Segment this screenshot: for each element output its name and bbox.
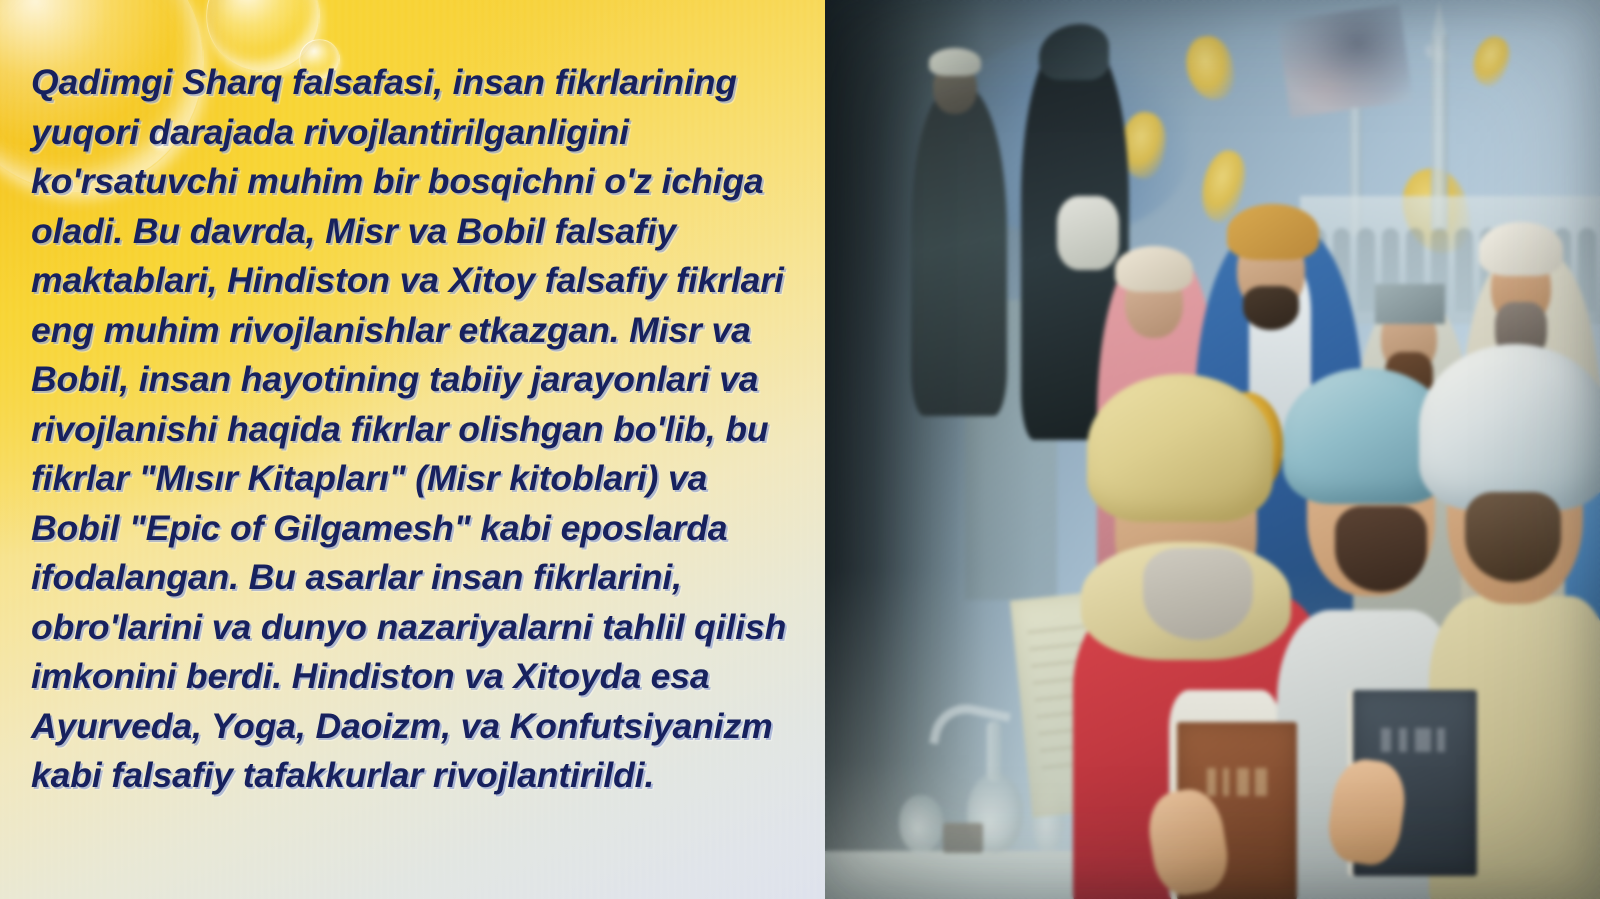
- mural-sky-background: [825, 0, 1600, 899]
- distillation-tube: [929, 698, 1011, 758]
- gold-motif-icon: [1466, 31, 1516, 90]
- gold-motif-icon: [1116, 109, 1171, 182]
- parchment-script-lines: [1027, 622, 1128, 780]
- parchment-scroll: [1010, 588, 1150, 817]
- winged-horse-motif: [1277, 4, 1413, 118]
- figure-robe: [1097, 250, 1219, 670]
- brown-book-inscription: [1207, 768, 1267, 796]
- mosque-building: [1300, 196, 1600, 324]
- figure-head: [1491, 250, 1551, 326]
- bird-motif-icon: [1421, 39, 1454, 67]
- retort-stand: [943, 823, 983, 853]
- hand-holding-book: [1143, 785, 1232, 899]
- figure-cap: [1375, 284, 1445, 324]
- small-flask: [899, 795, 943, 853]
- figure-turban: [1283, 368, 1451, 504]
- lute-neck: [1232, 483, 1253, 550]
- figure-turban: [1479, 222, 1563, 276]
- figure-blue-shawl: [1565, 410, 1600, 640]
- figure-robe: [1353, 300, 1473, 680]
- figure-beard: [1335, 506, 1427, 592]
- figure-hood: [1039, 24, 1109, 80]
- figure-beard: [1143, 548, 1253, 640]
- slide-body-text: Qadimgi Sharq falsafasi, insan fikrlarin…: [31, 58, 801, 801]
- mural-texture-overlay: [825, 0, 1600, 899]
- gold-motif-icon: [1029, 73, 1097, 155]
- figure-head: [1125, 268, 1183, 338]
- figure-scarf: [1081, 542, 1291, 660]
- minaret-tall: [1431, 34, 1448, 230]
- minaret-short: [1349, 108, 1362, 236]
- figure-beard: [1495, 302, 1547, 364]
- golden-lute: [1209, 392, 1283, 496]
- figure-head: [933, 62, 977, 114]
- wall-panel: [965, 300, 1057, 600]
- figure-robe: [1195, 224, 1363, 664]
- mural-vignette: [825, 0, 1600, 899]
- dark-book-inscription: [1381, 728, 1445, 752]
- figure-beard: [1385, 352, 1433, 408]
- dome-shape: [943, 36, 1189, 232]
- gold-motif-icon: [1183, 33, 1237, 103]
- text-panel: Qadimgi Sharq falsafasi, insan fikrlarin…: [0, 0, 825, 899]
- slide-canvas: Qadimgi Sharq falsafasi, insan fikrlarin…: [0, 0, 1600, 899]
- figure-head: [1381, 304, 1437, 374]
- figure-sash: [1057, 196, 1119, 270]
- figure-tunic: [1249, 268, 1311, 458]
- figure-head: [1237, 230, 1305, 312]
- hand-holding-book: [1324, 755, 1410, 868]
- distillation-flask: [967, 773, 1023, 853]
- mural-softening-layer: [825, 0, 1600, 899]
- figure-turban: [929, 48, 981, 76]
- figure-beard: [1243, 286, 1299, 330]
- workbench: [825, 851, 1145, 899]
- gold-motif-icon: [1396, 162, 1476, 259]
- figure-robe: [1429, 596, 1600, 899]
- mosque-arcade: [1308, 228, 1596, 312]
- figure-head: [1447, 412, 1583, 604]
- figure-turban: [1227, 204, 1319, 260]
- tall-vial: [1031, 779, 1065, 853]
- illustration-panel: [825, 0, 1600, 899]
- mural-left-shadow: [825, 0, 1035, 899]
- figure-turban: [1115, 246, 1193, 292]
- gold-motif-icon: [1194, 146, 1252, 226]
- figure-beard: [1465, 492, 1561, 582]
- figure-turban: [1087, 374, 1273, 522]
- figure-robe: [1021, 40, 1129, 440]
- figure-head: [1115, 430, 1257, 620]
- figure-robe: [911, 86, 1007, 416]
- flask-neck: [987, 721, 1001, 781]
- figure-head: [1307, 424, 1435, 596]
- figure-turban: [1419, 344, 1600, 510]
- figure-robe: [1461, 252, 1600, 682]
